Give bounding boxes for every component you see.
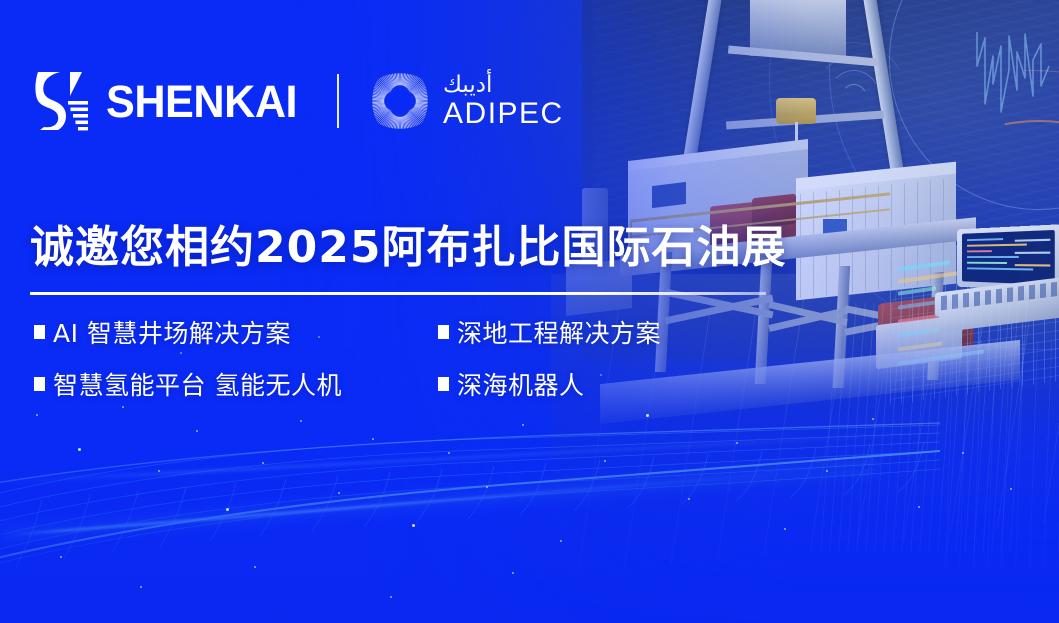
adipec-arabic-name: أديبك xyxy=(443,74,564,97)
feature-label: 智慧氢能平台 氢能无人机 xyxy=(53,366,342,402)
logo-divider xyxy=(337,74,339,128)
shenkai-mark-svg xyxy=(30,70,92,132)
shenkai-s-mark xyxy=(30,70,92,132)
bullet-square-icon xyxy=(438,325,449,339)
adipec-english-name: ADIPEC xyxy=(443,99,564,129)
adipec-mark-svg xyxy=(367,68,433,134)
feature-row: 智慧氢能平台 氢能无人机 深海机器人 xyxy=(34,366,794,402)
feature-label: 深地工程解决方案 xyxy=(457,314,661,350)
feature-label: 深海机器人 xyxy=(457,366,585,402)
adipec-2025-promo-banner: SHENKAI أديبك ADIPEC xyxy=(0,0,1059,623)
adipec-logo: أديبك ADIPEC xyxy=(367,68,564,134)
bullet-square-icon xyxy=(34,325,45,339)
list-item: AI 智慧井场解决方案 xyxy=(34,314,291,350)
adipec-radial-burst-mark xyxy=(367,68,433,134)
bullet-square-icon xyxy=(34,377,45,391)
feature-list: AI 智慧井场解决方案 深地工程解决方案 智慧氢能平台 氢能无人机 xyxy=(34,314,794,418)
feature-row: AI 智慧井场解决方案 深地工程解决方案 xyxy=(34,314,794,350)
page-title: 诚邀您相约2025阿布扎比国际石油展 xyxy=(30,224,786,272)
list-item: 深海机器人 xyxy=(438,366,585,402)
list-item: 智慧氢能平台 氢能无人机 xyxy=(34,366,342,402)
shenkai-wordmark: SHENKAI xyxy=(106,79,297,124)
logo-row: SHENKAI أديبك ADIPEC xyxy=(30,66,564,136)
feature-column-right: 深地工程解决方案 xyxy=(438,314,661,350)
banner-content: SHENKAI أديبك ADIPEC xyxy=(0,0,1059,623)
list-item: 深地工程解决方案 xyxy=(438,314,661,350)
bullet-square-icon xyxy=(438,377,449,391)
feature-column-left: 智慧氢能平台 氢能无人机 xyxy=(34,366,438,402)
title-divider xyxy=(30,292,766,295)
feature-column-right: 深海机器人 xyxy=(438,366,585,402)
feature-label: AI 智慧井场解决方案 xyxy=(53,314,291,350)
adipec-text-block: أديبك ADIPEC xyxy=(443,74,564,129)
feature-column-left: AI 智慧井场解决方案 xyxy=(34,314,438,350)
